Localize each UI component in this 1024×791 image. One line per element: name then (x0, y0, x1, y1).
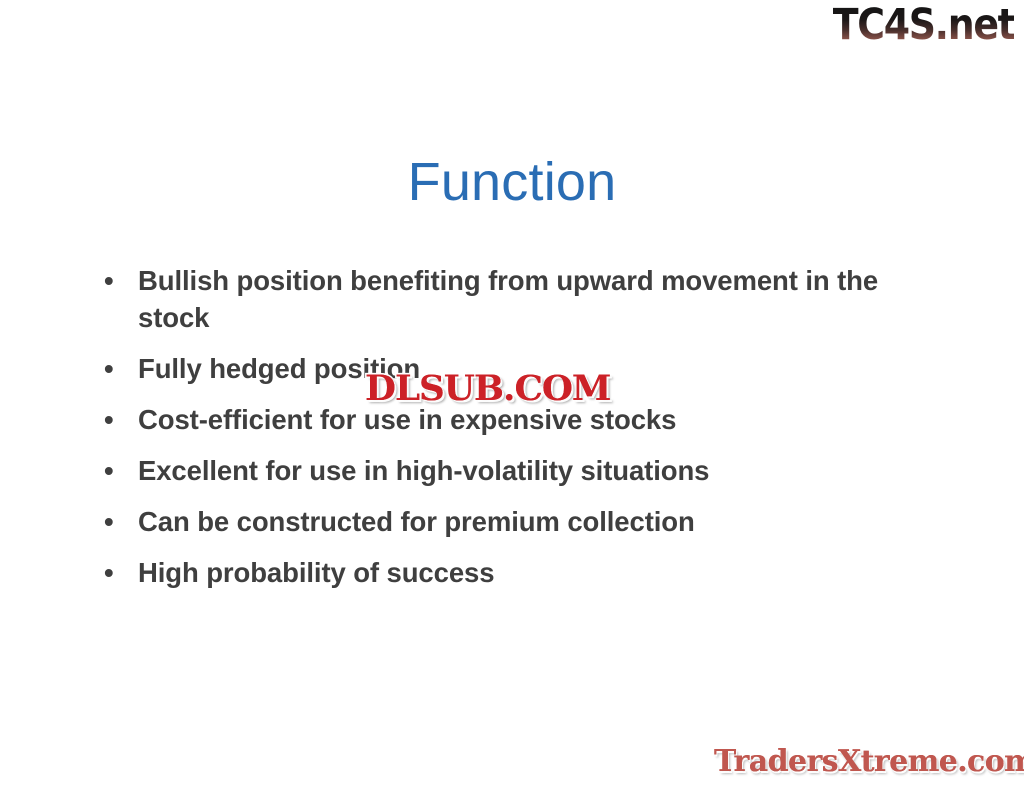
bullet-dot-icon: • (104, 503, 124, 540)
presentation-slide: TC4S.net Function • Bullish position ben… (0, 0, 1024, 791)
bullet-dot-icon: • (104, 554, 124, 591)
list-item-label: Bullish position benefiting from upward … (138, 262, 928, 336)
page-title: Function (0, 150, 1024, 214)
list-item: • Excellent for use in high-volatility s… (98, 452, 958, 489)
list-item-label: Can be constructed for premium collectio… (138, 503, 928, 540)
list-item: • Bullish position benefiting from upwar… (98, 262, 958, 336)
list-item-label: Excellent for use in high-volatility sit… (138, 452, 928, 489)
tradersxtreme-watermark: TradersXtreme.com (714, 743, 1024, 781)
bullet-list: • Bullish position benefiting from upwar… (98, 262, 958, 591)
bullet-dot-icon: • (104, 350, 124, 387)
list-item: • High probability of success (98, 554, 958, 591)
dlsub-watermark: DLSUB.COM (365, 369, 610, 409)
tc4s-logo: TC4S.net (832, 2, 1014, 48)
bullet-dot-icon: • (104, 401, 124, 438)
bullet-dot-icon: • (104, 262, 124, 299)
list-item-label: High probability of success (138, 554, 928, 591)
bullet-dot-icon: • (104, 452, 124, 489)
list-item: • Can be constructed for premium collect… (98, 503, 958, 540)
